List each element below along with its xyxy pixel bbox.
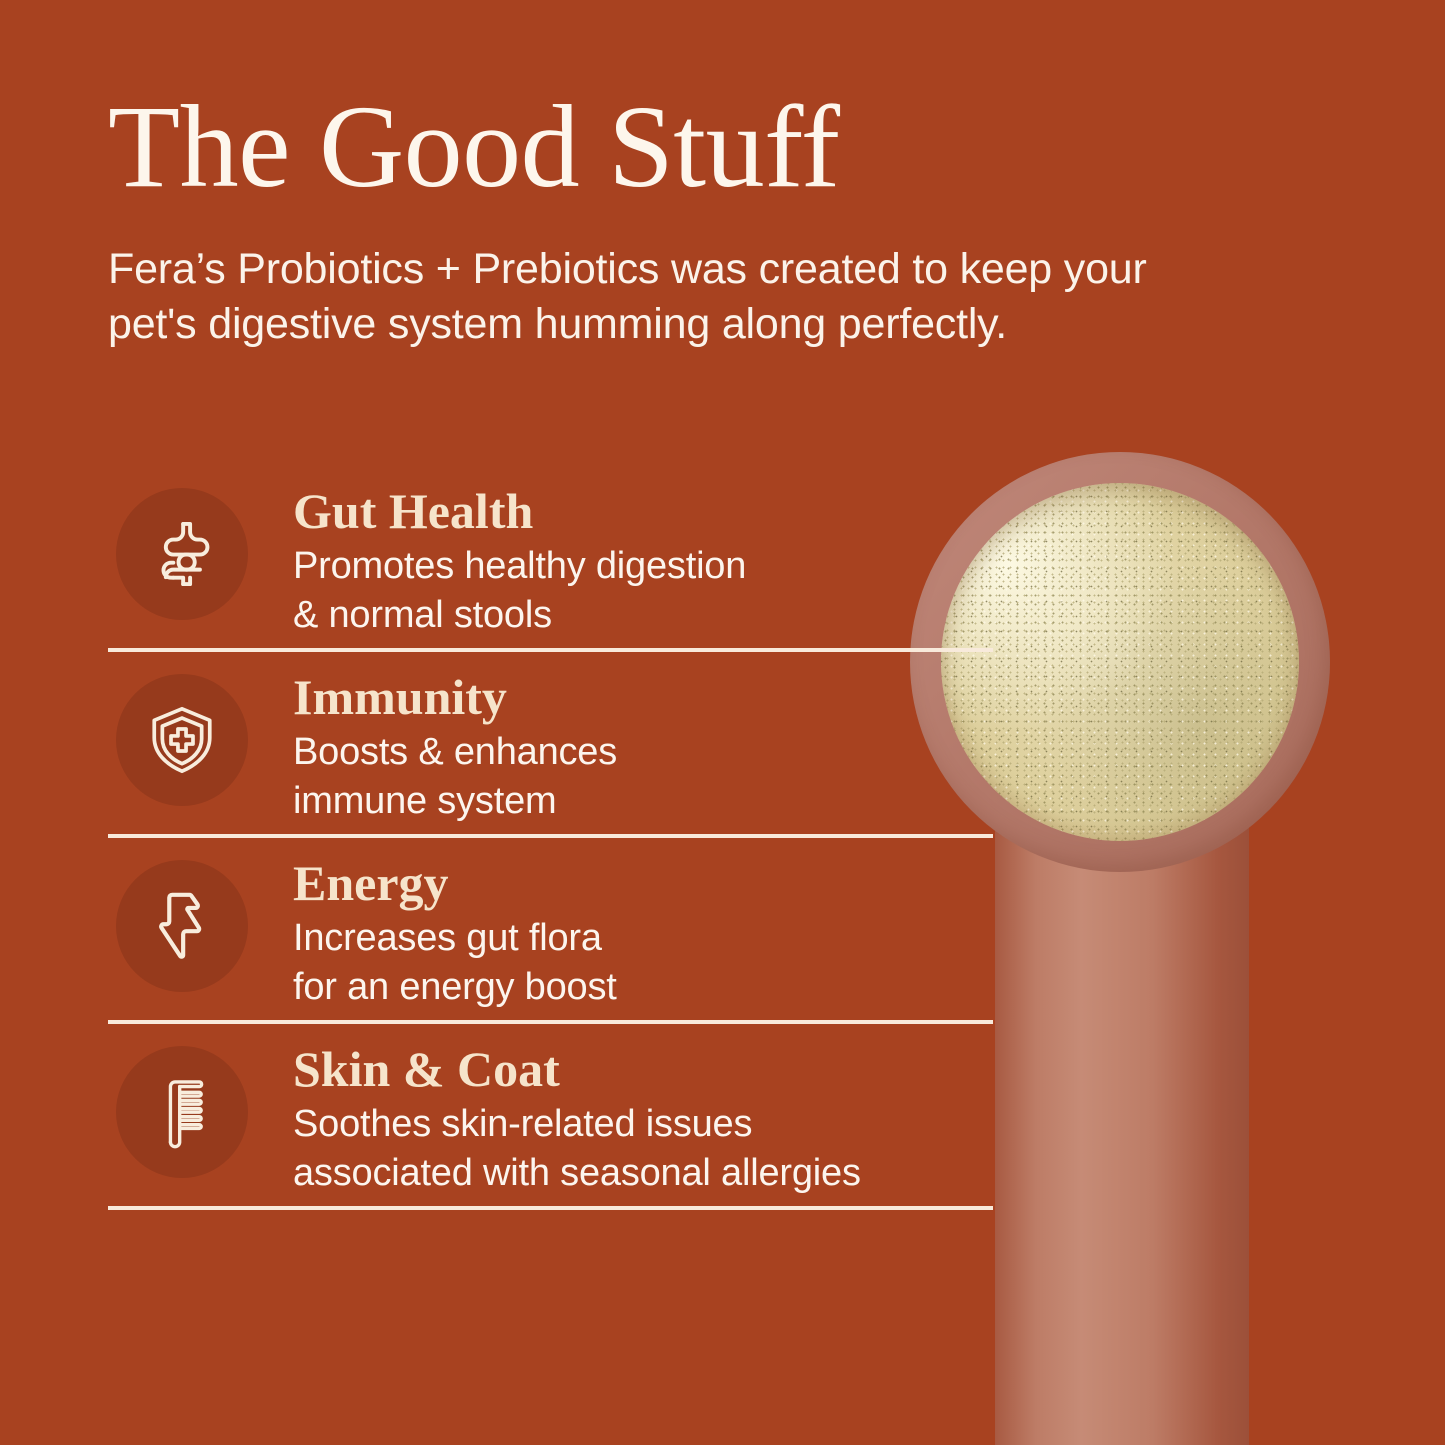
feature-text: Energy Increases gut flora for an energy… xyxy=(293,838,998,1011)
feature-text: Immunity Boosts & enhances immune system xyxy=(293,652,998,825)
feature-icon-badge xyxy=(116,860,248,992)
feature-item-skin-and-coat[interactable]: Skin & Coat Soothes skin-related issues … xyxy=(108,1024,998,1206)
feature-title: Gut Health xyxy=(293,484,998,538)
feature-description-line-2: for an energy boost xyxy=(293,963,998,1012)
feature-item-energy[interactable]: Energy Increases gut flora for an energy… xyxy=(108,838,998,1020)
feature-item-immunity[interactable]: Immunity Boosts & enhances immune system xyxy=(108,652,998,834)
feature-description-line-1: Boosts & enhances xyxy=(293,728,998,777)
lightning-bolt-icon xyxy=(145,889,219,963)
feature-text: Skin & Coat Soothes skin-related issues … xyxy=(293,1024,998,1197)
feature-title: Skin & Coat xyxy=(293,1042,998,1096)
feature-text: Gut Health Promotes healthy digestion & … xyxy=(293,466,998,639)
header-block: The Good Stuff Fera’s Probiotics + Prebi… xyxy=(108,88,1288,352)
feature-icon-badge xyxy=(116,488,248,620)
feature-icon-badge xyxy=(116,1046,248,1178)
page-title: The Good Stuff xyxy=(108,88,1288,206)
page-subtitle: Fera’s Probiotics + Prebiotics was creat… xyxy=(108,242,1238,352)
feature-description-line-2: associated with seasonal allergies xyxy=(293,1149,998,1198)
feature-description-line-2: immune system xyxy=(293,777,998,826)
scoop-handle xyxy=(995,782,1249,1445)
feature-description-line-2: & normal stools xyxy=(293,591,998,640)
shield-cross-icon xyxy=(145,703,219,777)
feature-description-line-1: Promotes healthy digestion xyxy=(293,542,998,591)
feature-icon-badge xyxy=(116,674,248,806)
feature-title: Energy xyxy=(293,856,998,910)
feature-item-gut-health[interactable]: Gut Health Promotes healthy digestion & … xyxy=(108,466,998,648)
feature-title: Immunity xyxy=(293,670,998,724)
comb-icon xyxy=(145,1075,219,1149)
intestine-icon xyxy=(145,517,219,591)
feature-description-line-1: Increases gut flora xyxy=(293,914,998,963)
infographic-canvas: The Good Stuff Fera’s Probiotics + Prebi… xyxy=(0,0,1445,1445)
feature-list: Gut Health Promotes healthy digestion & … xyxy=(108,466,998,1210)
feature-divider xyxy=(108,1206,993,1210)
feature-description-line-1: Soothes skin-related issues xyxy=(293,1100,998,1149)
